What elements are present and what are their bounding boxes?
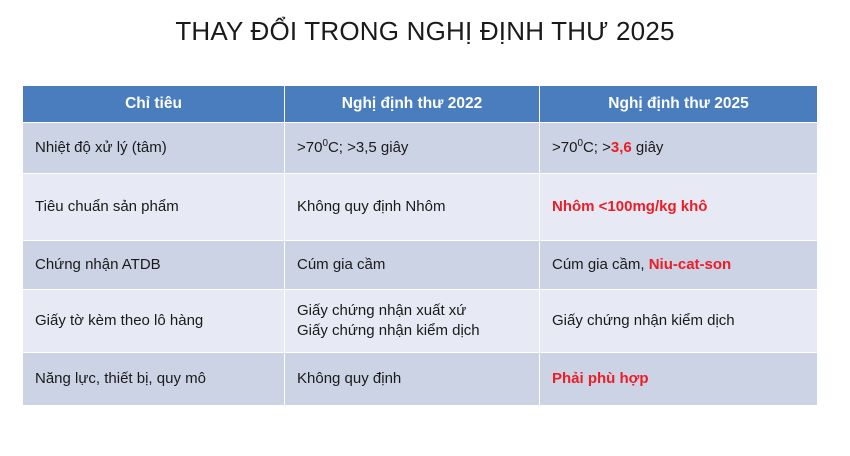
table-row: Năng lực, thiết bị, quy mô Không quy địn… [23, 353, 817, 405]
temperature-value-suffix-2022: C; >3,5 giây [328, 139, 408, 156]
cell-protocol-2025: >700C; >3,6 giây [540, 123, 817, 173]
table-row: Tiêu chuẩn sản phẩm Không quy định Nhôm … [23, 174, 817, 240]
table-header: Chỉ tiêu Nghị định thư 2022 Nghị định th… [23, 86, 817, 122]
column-header-criterion: Chỉ tiêu [23, 86, 284, 122]
cell-criterion: Tiêu chuẩn sản phẩm [23, 174, 284, 240]
table-row: Nhiệt độ xử lý (tâm) >700C; >3,5 giây >7… [23, 123, 817, 173]
temperature-value-suffix-2025: giây [632, 139, 664, 156]
cell-protocol-2025: Giấy chứng nhận kiểm dịch [540, 290, 817, 352]
table-row: Giấy tờ kèm theo lô hàng Giấy chứng nhận… [23, 290, 817, 352]
column-header-protocol-2022: Nghị định thư 2022 [285, 86, 539, 122]
highlighted-value-2025: Phải phù hợp [552, 370, 649, 387]
cell-protocol-2022: Không quy định Nhôm [285, 174, 539, 240]
table-header-row: Chỉ tiêu Nghị định thư 2022 Nghị định th… [23, 86, 817, 122]
page-title: THAY ĐỔI TRONG NGHỊ ĐỊNH THƯ 2025 [0, 16, 850, 47]
column-header-protocol-2025: Nghị định thư 2025 [540, 86, 817, 122]
cell-protocol-2025: Phải phù hợp [540, 353, 817, 405]
cell-criterion: Nhiệt độ xử lý (tâm) [23, 123, 284, 173]
cell-protocol-2022: Cúm gia cầm [285, 241, 539, 289]
cell-protocol-2025: Cúm gia cầm, Niu-cat-son [540, 241, 817, 289]
slide-canvas: THAY ĐỔI TRONG NGHỊ ĐỊNH THƯ 2025 Chỉ ti… [0, 0, 850, 456]
comparison-table: Chỉ tiêu Nghị định thư 2022 Nghị định th… [22, 85, 818, 406]
document-line-2: Giấy chứng nhận kiểm dịch [297, 321, 527, 341]
cell-protocol-2022: Không quy định [285, 353, 539, 405]
cell-protocol-2022: Giấy chứng nhận xuất xứ Giấy chứng nhận … [285, 290, 539, 352]
cell-criterion: Giấy tờ kèm theo lô hàng [23, 290, 284, 352]
cell-criterion: Chứng nhận ATDB [23, 241, 284, 289]
table-row: Chứng nhận ATDB Cúm gia cầm Cúm gia cầm,… [23, 241, 817, 289]
cell-criterion: Năng lực, thiết bị, quy mô [23, 353, 284, 405]
temperature-value-mid-2025: C; > [583, 139, 611, 156]
highlighted-value-2025: Nhôm <100mg/kg khô [552, 198, 707, 215]
cell-protocol-2025: Nhôm <100mg/kg khô [540, 174, 817, 240]
highlighted-value-2025: 3,6 [611, 139, 632, 156]
comparison-table-container: Chỉ tiêu Nghị định thư 2022 Nghị định th… [22, 85, 816, 406]
highlighted-value-2025: Niu-cat-son [649, 256, 732, 273]
table-body: Nhiệt độ xử lý (tâm) >700C; >3,5 giây >7… [23, 123, 817, 405]
cell-protocol-2022: >700C; >3,5 giây [285, 123, 539, 173]
plain-value-2025: Cúm gia cầm, [552, 256, 649, 273]
temperature-value-prefix-2025: >70 [552, 139, 577, 156]
document-line-1: Giấy chứng nhận xuất xứ [297, 301, 527, 321]
temperature-value-prefix-2022: >70 [297, 139, 322, 156]
